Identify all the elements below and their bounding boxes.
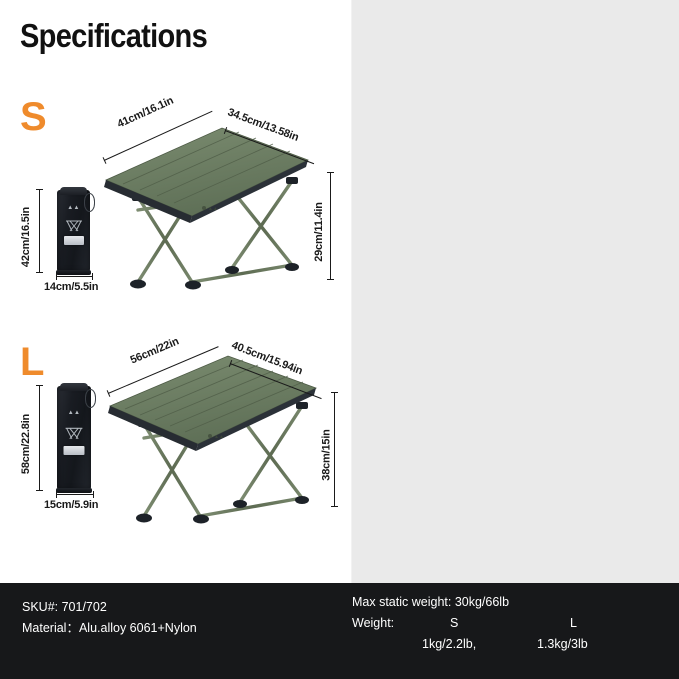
bag-table-graphic-icon-l <box>64 424 85 440</box>
weight-header-row: Weight: S L <box>352 613 509 634</box>
bag-width-tick-left-s <box>56 273 57 280</box>
bag-width-rule-l <box>56 494 93 495</box>
table-drawing-s: ▲▲ <box>96 118 311 298</box>
bag-width-label-l: 15cm/5.9in <box>44 499 98 511</box>
table-height-tick-top-s <box>327 172 334 173</box>
table-height-label-s: 29cm/11.4in <box>313 202 325 262</box>
table-height-rule-s <box>330 172 331 280</box>
footer-left-column: SKU#: 701/702 Material：Alu.alloy 6061+Ny… <box>22 597 197 639</box>
spec-footer-bar: SKU#: 701/702 Material：Alu.alloy 6061+Ny… <box>0 583 679 679</box>
page-title: Specifications <box>20 17 207 55</box>
size-label-l: L <box>20 342 44 382</box>
svg-text:▲▲: ▲▲ <box>208 206 218 212</box>
bag-base-l <box>56 488 91 493</box>
weight-value-row: 1kg/2.2lb, 1.3kg/3lb <box>352 634 509 655</box>
bag-height-label-s: 42cm/16.5in <box>20 207 32 267</box>
bag-width-rule-s <box>56 276 92 277</box>
bag-height-tick-top-s <box>36 189 43 190</box>
carry-bag-s: ▲▲ <box>57 190 90 272</box>
table-drawing-l: ▲▲ <box>100 348 320 538</box>
size-label-s: S <box>20 97 47 137</box>
weight-l-value: 1.3kg/3lb <box>537 634 588 655</box>
bag-spec-label <box>64 236 84 245</box>
carry-bag-l: ▲▲ <box>57 386 91 490</box>
table-illustration-l: ▲▲ <box>100 348 320 538</box>
weight-s-value: 1kg/2.2lb, <box>422 634 476 655</box>
bag-drawstring-top-l <box>60 383 89 391</box>
weight-l-header: L <box>570 613 577 634</box>
table-height-tick-bottom-s <box>327 279 334 280</box>
table-height-rule-l <box>334 392 335 507</box>
sku-text: SKU#: 701/702 <box>22 597 197 618</box>
bag-height-tick-bottom-s <box>36 272 43 273</box>
bag-width-tick-right-l <box>93 491 94 498</box>
bag-height-rule-s <box>39 189 40 273</box>
photo-panel <box>352 0 679 583</box>
material-text: Material：Alu.alloy 6061+Nylon <box>22 618 197 639</box>
diagram-panel: Specifications S ▲▲ 42cm/16.5in <box>0 0 352 583</box>
bag-height-label-l: 58cm/22.8in <box>20 414 32 474</box>
bag-base <box>56 270 90 275</box>
weight-s-header: S <box>450 613 458 634</box>
bag-spec-label-l <box>64 446 85 455</box>
table-height-label-l: 38cm/15in <box>321 429 333 480</box>
bag-width-tick-left-l <box>56 491 57 498</box>
bag-drawstring-top <box>60 187 88 195</box>
bag-height-rule-l <box>39 385 40 491</box>
table-illustration-s: ▲▲ <box>96 118 311 298</box>
bag-width-label-s: 14cm/5.5in <box>44 281 98 293</box>
specifications-page: Specifications S ▲▲ 42cm/16.5in <box>0 0 679 679</box>
max-static-weight-text: Max static weight: 30kg/66lb <box>352 592 509 613</box>
weight-label: Weight: <box>352 613 394 634</box>
bag-brand-logo: ▲▲ <box>67 205 79 211</box>
table-height-tick-bottom-l <box>331 506 338 507</box>
bag-table-graphic-icon <box>64 217 84 232</box>
bag-width-tick-right-s <box>92 273 93 280</box>
svg-text:▲▲: ▲▲ <box>214 434 224 440</box>
table-height-tick-top-l <box>331 392 338 393</box>
bag-brand-logo-l: ▲▲ <box>68 410 80 416</box>
bag-loop-icon <box>84 193 95 212</box>
bag-height-tick-top-l <box>36 385 43 386</box>
bag-loop-icon-l <box>85 389 96 408</box>
panel-divider <box>351 0 352 583</box>
bag-height-tick-bottom-l <box>36 490 43 491</box>
footer-right-column: Max static weight: 30kg/66lb Weight: S L… <box>352 592 509 655</box>
